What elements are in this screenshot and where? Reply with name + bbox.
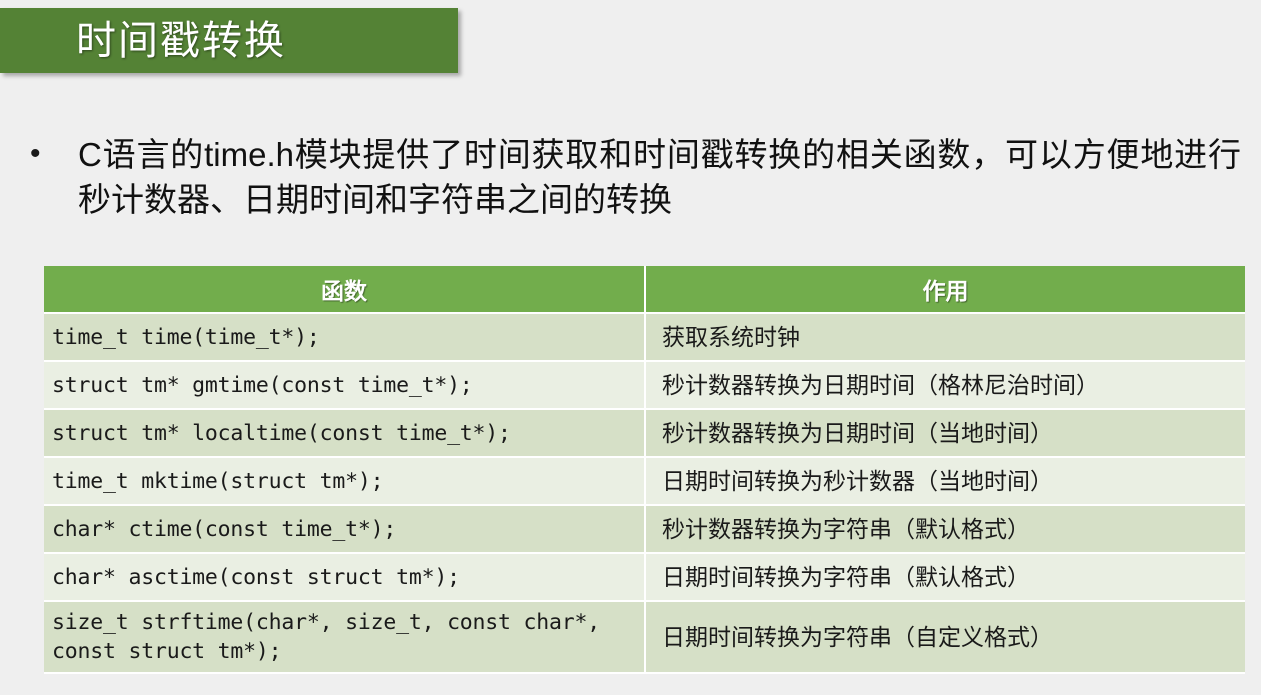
cell-description: 秒计数器转换为日期时间（当地时间） — [645, 409, 1245, 457]
table-header-row: 函数 作用 — [44, 266, 1245, 313]
bullet-marker-icon: • — [26, 132, 78, 176]
cell-function: char* asctime(const struct tm*); — [44, 553, 645, 601]
function-signature: char* ctime(const time_t*); — [52, 515, 644, 544]
cell-description: 秒计数器转换为日期时间（格林尼治时间） — [645, 361, 1245, 409]
function-description: 秒计数器转换为日期时间（当地时间） — [654, 418, 1245, 448]
cell-function: size_t strftime(char*, size_t, const cha… — [44, 601, 645, 673]
cell-function: struct tm* gmtime(const time_t*); — [44, 361, 645, 409]
cell-function: time_t mktime(struct tm*); — [44, 457, 645, 505]
table-row: struct tm* gmtime(const time_t*); 秒计数器转换… — [44, 361, 1245, 409]
table-row: struct tm* localtime(const time_t*); 秒计数… — [44, 409, 1245, 457]
table-row: time_t time(time_t*); 获取系统时钟 — [44, 313, 1245, 361]
table-row: time_t mktime(struct tm*); 日期时间转换为秒计数器（当… — [44, 457, 1245, 505]
function-description: 秒计数器转换为日期时间（格林尼治时间） — [654, 370, 1245, 400]
cell-description: 获取系统时钟 — [645, 313, 1245, 361]
bullet-paragraph: • C语言的time.h模块提供了时间获取和时间戳转换的相关函数，可以方便地进行… — [26, 132, 1241, 222]
function-signature: time_t mktime(struct tm*); — [52, 467, 644, 496]
function-signature: char* asctime(const struct tm*); — [52, 563, 644, 592]
cell-description: 日期时间转换为字符串（默认格式） — [645, 553, 1245, 601]
cell-function: struct tm* localtime(const time_t*); — [44, 409, 645, 457]
table-header: 函数 作用 — [44, 266, 1245, 313]
function-description: 获取系统时钟 — [654, 322, 1245, 352]
function-description: 日期时间转换为字符串（自定义格式） — [654, 622, 1245, 652]
function-reference-table: 函数 作用 time_t time(time_t*); 获取系统时钟 struc… — [44, 266, 1245, 674]
table-row: size_t strftime(char*, size_t, const cha… — [44, 601, 1245, 673]
function-description: 秒计数器转换为字符串（默认格式） — [654, 514, 1245, 544]
slide-title-banner: 时间戳转换 — [0, 8, 458, 73]
table-row: char* asctime(const struct tm*); 日期时间转换为… — [44, 553, 1245, 601]
function-signature: size_t strftime(char*, size_t, const cha… — [52, 608, 644, 666]
function-signature: time_t time(time_t*); — [52, 323, 644, 352]
cell-description: 日期时间转换为秒计数器（当地时间） — [645, 457, 1245, 505]
cell-function: time_t time(time_t*); — [44, 313, 645, 361]
cell-description: 日期时间转换为字符串（自定义格式） — [645, 601, 1245, 673]
function-description: 日期时间转换为秒计数器（当地时间） — [654, 466, 1245, 496]
table-row: char* ctime(const time_t*); 秒计数器转换为字符串（默… — [44, 505, 1245, 553]
column-header-description: 作用 — [645, 266, 1245, 313]
cell-function: char* ctime(const time_t*); — [44, 505, 645, 553]
function-signature: struct tm* localtime(const time_t*); — [52, 419, 644, 448]
page-title: 时间戳转换 — [76, 21, 286, 61]
cell-description: 秒计数器转换为字符串（默认格式） — [645, 505, 1245, 553]
column-header-function: 函数 — [44, 266, 645, 313]
bullet-paragraph-text: C语言的time.h模块提供了时间获取和时间戳转换的相关函数，可以方便地进行秒计… — [78, 132, 1241, 222]
function-signature: struct tm* gmtime(const time_t*); — [52, 371, 644, 400]
table-body: time_t time(time_t*); 获取系统时钟 struct tm* … — [44, 313, 1245, 673]
function-description: 日期时间转换为字符串（默认格式） — [654, 562, 1245, 592]
